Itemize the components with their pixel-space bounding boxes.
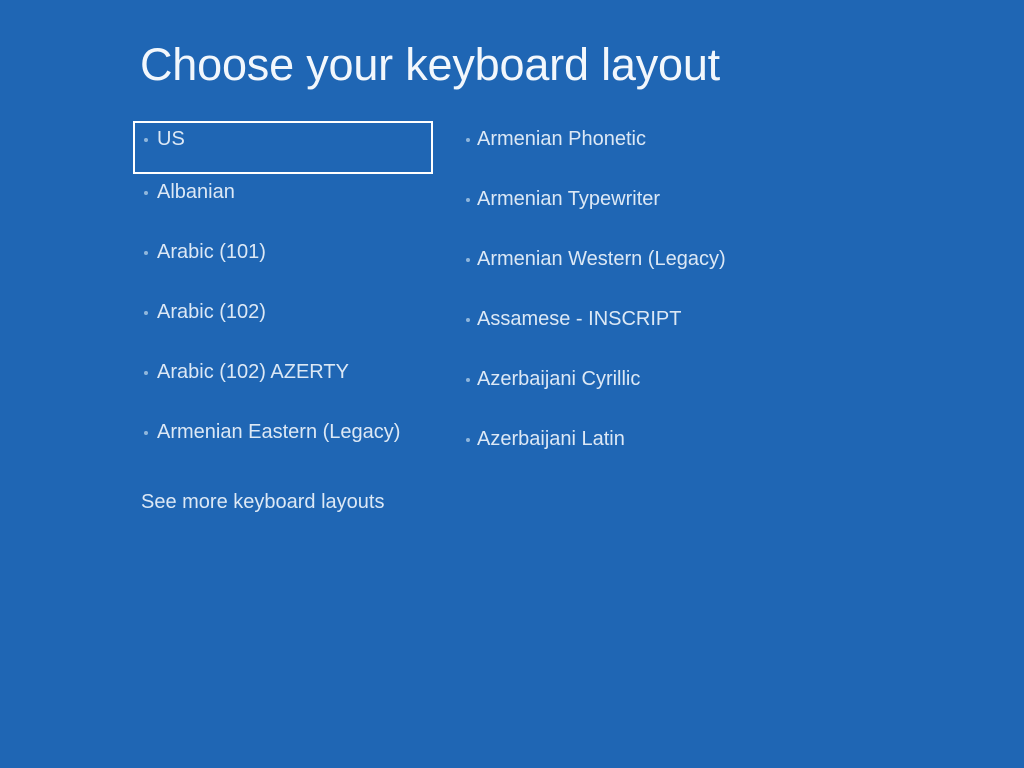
bullet-dot-icon [144,371,148,375]
page-title: Choose your keyboard layout [140,38,720,92]
bullet-dot-icon [144,431,148,435]
keyboard-layout-option[interactable]: Azerbaijani Cyrillic [460,361,780,421]
keyboard-layout-option-label: Armenian Eastern (Legacy) [157,414,400,444]
keyboard-layout-option[interactable]: Arabic (101) [133,234,433,294]
keyboard-layout-option[interactable]: Arabic (102) [133,294,433,354]
bullet-dot-icon [466,378,470,382]
see-more-keyboard-layouts-link[interactable]: See more keyboard layouts [141,490,384,514]
keyboard-layout-option-label: Albanian [157,174,235,204]
keyboard-layout-option[interactable]: Assamese - INSCRIPT [460,301,780,361]
keyboard-layout-option[interactable]: Armenian Typewriter [460,181,780,241]
keyboard-layout-option-label: US [157,123,185,151]
bullet-dot-icon [466,198,470,202]
keyboard-layout-option-label: Arabic (102) AZERTY [157,354,349,384]
keyboard-layout-option[interactable]: Azerbaijani Latin [460,421,780,481]
keyboard-layout-screen: Choose your keyboard layout USAlbanianAr… [0,0,1024,768]
keyboard-layout-option-label: Armenian Phonetic [477,121,646,151]
keyboard-layout-option-label: Azerbaijani Latin [477,421,625,451]
bullet-dot-icon [144,251,148,255]
keyboard-layout-option[interactable]: Arabic (102) AZERTY [133,354,433,414]
keyboard-layout-option-label: Arabic (102) [157,294,266,324]
bullet-dot-icon [466,138,470,142]
keyboard-layout-option-label: Arabic (101) [157,234,266,264]
bullet-dot-icon [144,138,148,142]
keyboard-layout-list-right: Armenian PhoneticArmenian TypewriterArme… [460,121,780,481]
bullet-dot-icon [466,438,470,442]
keyboard-layout-option[interactable]: Albanian [133,174,433,234]
keyboard-layout-list-left: USAlbanianArabic (101)Arabic (102)Arabic… [133,121,433,474]
keyboard-layout-option-label: Azerbaijani Cyrillic [477,361,640,391]
keyboard-layout-option[interactable]: Armenian Western (Legacy) [460,241,780,301]
keyboard-layout-option[interactable]: Armenian Phonetic [460,121,780,181]
bullet-dot-icon [144,191,148,195]
keyboard-layout-option[interactable]: US [133,121,433,174]
keyboard-layout-option[interactable]: Armenian Eastern (Legacy) [133,414,433,474]
keyboard-layout-option-label: Armenian Typewriter [477,181,660,211]
bullet-dot-icon [466,318,470,322]
bullet-dot-icon [144,311,148,315]
keyboard-layout-option-label: Assamese - INSCRIPT [477,301,681,331]
keyboard-layout-option-label: Armenian Western (Legacy) [477,241,726,271]
bullet-dot-icon [466,258,470,262]
